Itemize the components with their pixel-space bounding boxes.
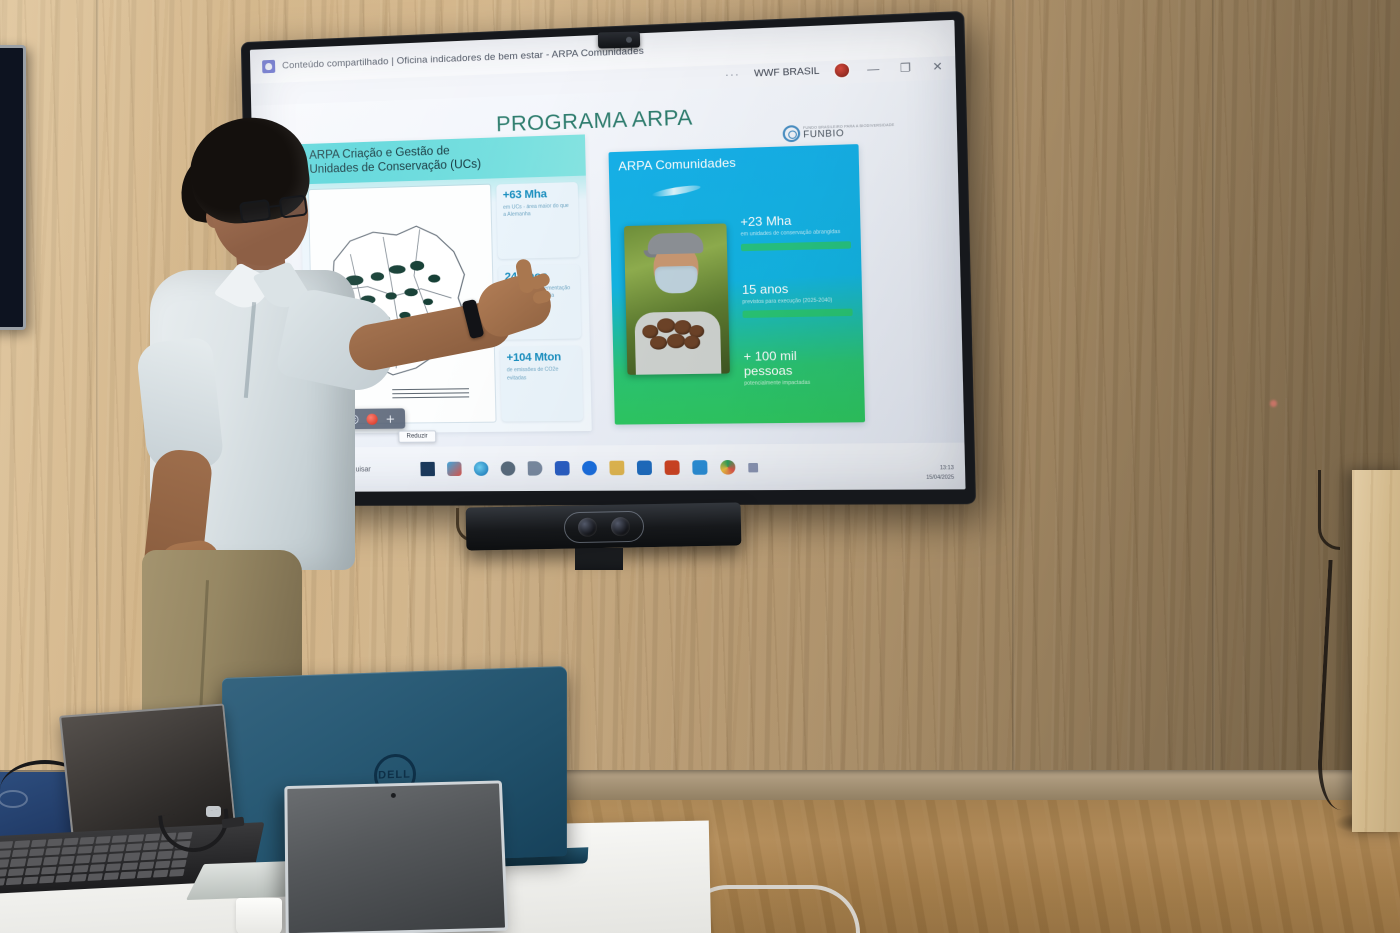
teams-add-icon[interactable] bbox=[748, 462, 758, 471]
stat-description: previstos para execução (2025-2040) bbox=[742, 297, 852, 307]
onedrive-icon[interactable] bbox=[692, 460, 707, 475]
tablet-camera-icon bbox=[391, 793, 396, 798]
speaker-icon[interactable] bbox=[528, 461, 543, 475]
wall-cable bbox=[1318, 470, 1340, 550]
photo-hands bbox=[635, 305, 713, 354]
open-laptop[interactable] bbox=[0, 716, 241, 886]
community-photo bbox=[624, 223, 730, 374]
stat-card: +104 Mton de emissões de CO2e evitadas bbox=[500, 346, 583, 422]
swoosh-decoration bbox=[652, 183, 702, 198]
stat-value: 15 anos bbox=[742, 280, 852, 297]
stat-value: +23 Mha bbox=[740, 212, 850, 230]
window-title: Conteúdo compartilhado | Oficina indicad… bbox=[282, 45, 644, 71]
stat-card: +23 Mha em unidades de conservação abran… bbox=[740, 210, 852, 280]
clock-date: 15/04/2025 bbox=[926, 473, 954, 482]
restore-button[interactable]: ❐ bbox=[896, 61, 914, 75]
dell-brand-text: DELL bbox=[378, 768, 411, 781]
meeting-room-scene: Conteúdo compartilhado | Oficina indicad… bbox=[0, 0, 1400, 933]
outlook-icon[interactable] bbox=[637, 460, 652, 475]
conference-webcam bbox=[598, 32, 640, 49]
teams-people-icon bbox=[262, 59, 275, 73]
org-label: WWF BRASIL bbox=[754, 66, 820, 80]
secondary-display bbox=[0, 45, 26, 330]
close-button[interactable]: ✕ bbox=[929, 59, 947, 73]
stat-value-line-2: pessoas bbox=[744, 363, 854, 379]
lens-flare bbox=[1270, 400, 1277, 407]
stat-description: em UCs - área maior do que a Alemanha bbox=[503, 203, 573, 220]
stat-card: 15 anos previstos para execução (2025-20… bbox=[742, 278, 854, 348]
stat-value: +104 Mton bbox=[506, 351, 576, 364]
video-conference-soundbar bbox=[466, 502, 742, 550]
files-folder-icon[interactable] bbox=[609, 461, 624, 476]
right-panel-title: ARPA Comunidades bbox=[618, 155, 736, 173]
funbio-name: FUNBIO bbox=[803, 127, 895, 140]
tablet-device[interactable] bbox=[284, 780, 508, 933]
soundbar-camera-module bbox=[563, 510, 644, 543]
zoom-icon[interactable] bbox=[582, 461, 597, 476]
camera-lens-icon bbox=[577, 517, 596, 536]
avatar[interactable] bbox=[833, 62, 850, 78]
display-mount bbox=[575, 548, 623, 570]
stat-description: de emissões de CO2e evitadas bbox=[507, 367, 577, 383]
stat-divider bbox=[741, 241, 851, 251]
stat-card: +63 Mha em UCs - área maior do que a Ale… bbox=[496, 182, 579, 259]
right-stats-column: +23 Mha em unidades de conservação abran… bbox=[740, 210, 855, 415]
stat-description: em unidades de conservação abrangidas bbox=[741, 229, 851, 240]
photo-cap bbox=[647, 232, 703, 254]
stat-card: + 100 mil pessoas potencialmente impacta… bbox=[743, 346, 855, 415]
chrome-icon[interactable] bbox=[720, 460, 735, 475]
stat-divider bbox=[742, 309, 852, 318]
overflow-menu-icon[interactable]: ··· bbox=[725, 68, 740, 81]
powerpoint-icon[interactable] bbox=[665, 460, 680, 475]
stat-value-line-1: + 100 mil bbox=[743, 348, 853, 364]
figma-icon[interactable] bbox=[501, 461, 516, 475]
funbio-spiral-icon bbox=[782, 125, 800, 142]
paper-cup bbox=[236, 898, 282, 933]
photo-face-mask bbox=[655, 266, 698, 294]
clock-time: 13:13 bbox=[926, 464, 954, 473]
arpa-comunidades-panel: ARPA Comunidades bbox=[609, 144, 866, 425]
minimize-button[interactable]: — bbox=[864, 63, 882, 76]
webcam-lens-icon bbox=[626, 37, 632, 43]
taskbar-clock[interactable]: 13:13 15/04/2025 bbox=[926, 464, 954, 482]
cabinet-grain bbox=[1352, 470, 1400, 832]
camera-lens-icon bbox=[610, 517, 629, 536]
funbio-logo: FUNDO BRASILEIRO PARA A BIODIVERSIDADE F… bbox=[782, 122, 895, 143]
stat-value: +63 Mha bbox=[503, 187, 573, 201]
word-icon[interactable] bbox=[555, 461, 570, 475]
keyboard-keys bbox=[0, 832, 193, 888]
wood-cabinet bbox=[1352, 470, 1400, 832]
edge-icon[interactable] bbox=[474, 462, 489, 476]
taskbar-pinned-apps bbox=[421, 460, 759, 476]
stat-description: potencialmente impactadas bbox=[744, 380, 854, 389]
